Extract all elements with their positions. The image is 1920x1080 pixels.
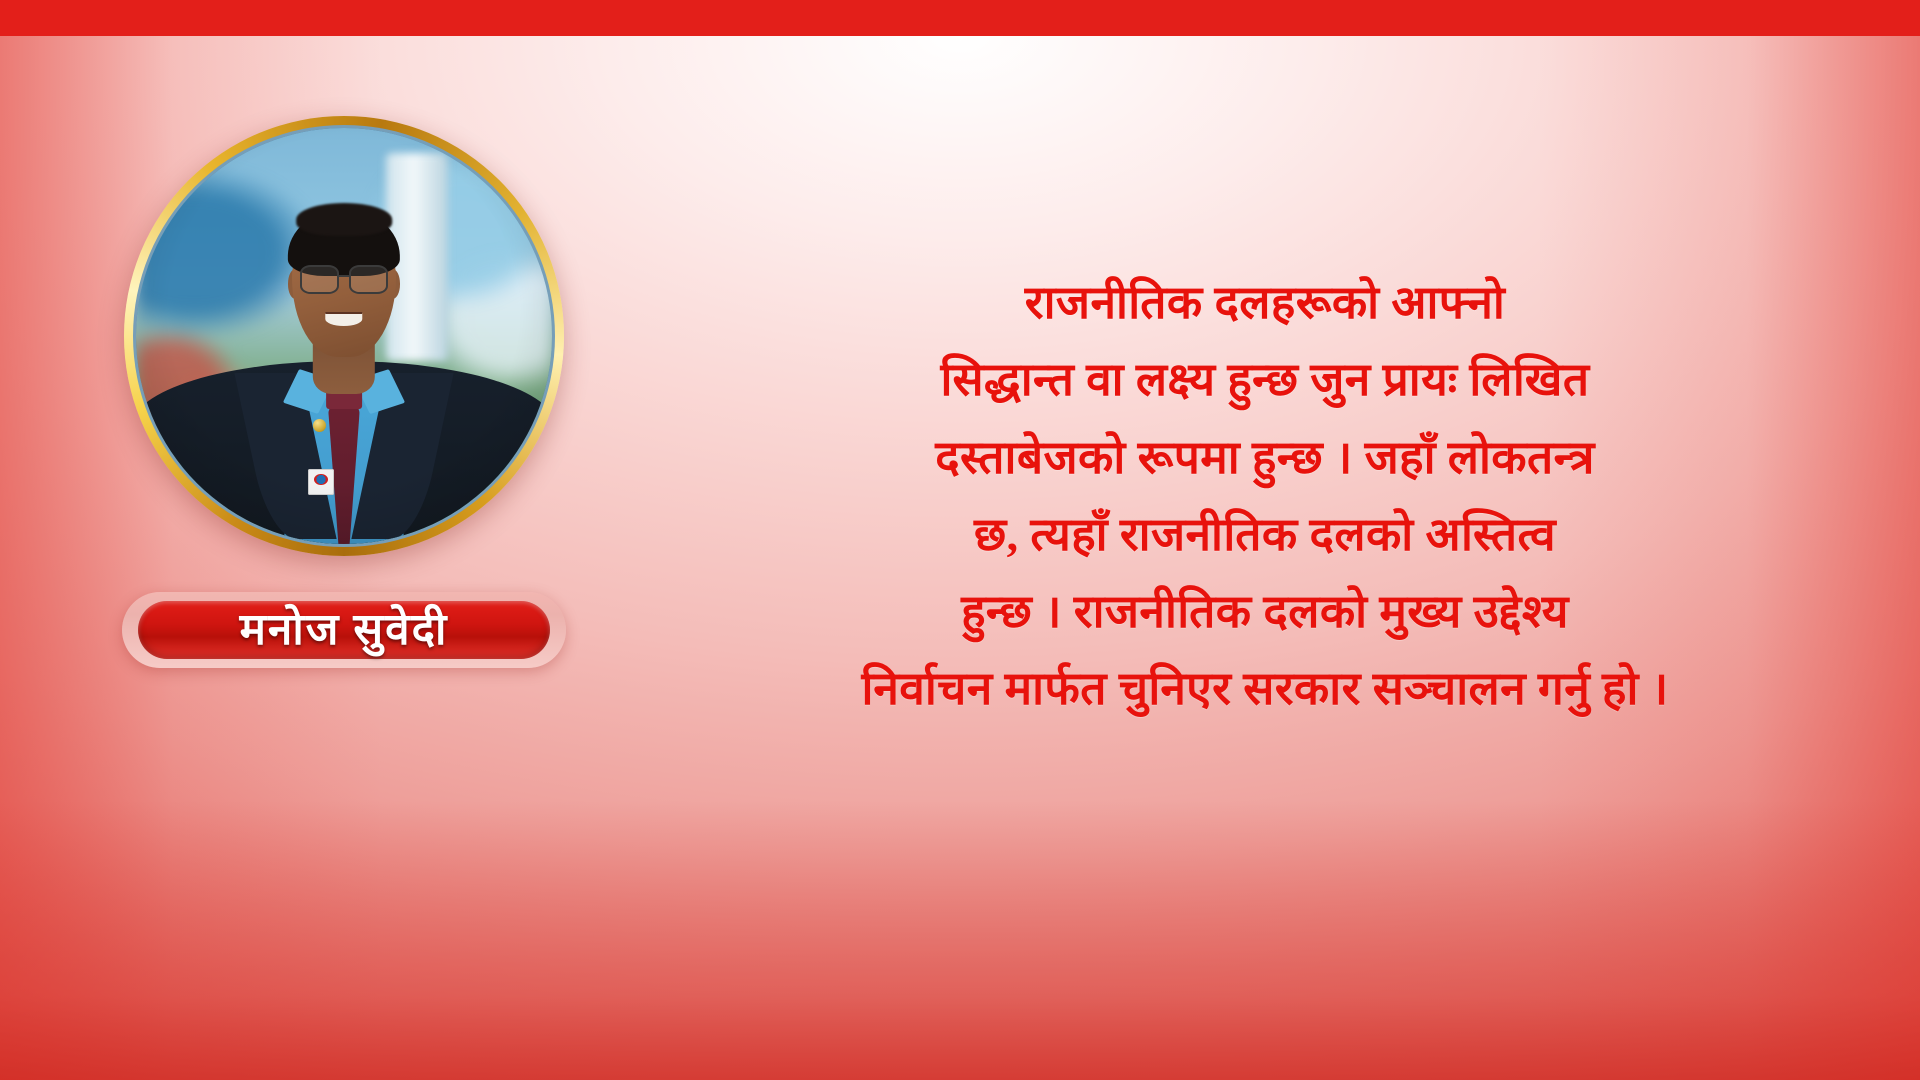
quote-line-2: सिद्धान्त वा लक्ष्य हुन्छ जुन प्रायः लिख… <box>700 341 1830 418</box>
quote-line-6: निर्वाचन मार्फत चुनिएर सरकार सञ्चालन गर्… <box>700 650 1830 727</box>
photo-vignette <box>136 128 552 544</box>
person-name: मनोज सुवेदी <box>240 608 449 652</box>
quote-line-3: दस्ताबेजको रूपमा हुन्छ । जहाँ लोकतन्त्र <box>700 419 1830 496</box>
nameplate-inner: मनोज सुवेदी <box>138 601 550 659</box>
quote-line-4: छ, त्यहाँ राजनीतिक दलको अस्तित्व <box>700 496 1830 573</box>
portrait-photo <box>133 125 555 547</box>
top-red-banner <box>0 0 1920 36</box>
quote-line-1: राजनीतिक दलहरूको आफ्नो <box>700 264 1830 341</box>
poster-body: मनोज सुवेदी राजनीतिक दलहरूको आफ्नो सिद्ध… <box>0 36 1920 1080</box>
quote-line-5: हुन्छ । राजनीतिक दलको मुख्य उद्देश्य <box>700 573 1830 650</box>
portrait-gold-ring <box>124 116 564 556</box>
quote-block: राजनीतिक दलहरूको आफ्नो सिद्धान्त वा लक्ष… <box>700 264 1830 728</box>
nameplate: मनोज सुवेदी <box>122 592 566 668</box>
